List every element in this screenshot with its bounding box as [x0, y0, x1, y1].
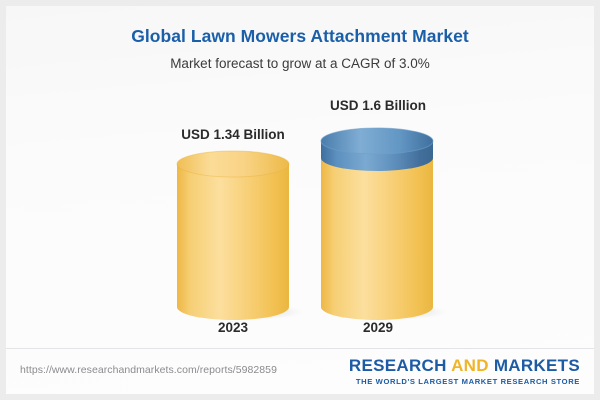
footer: https://www.researchandmarkets.com/repor… — [6, 348, 594, 394]
bar-2029 — [321, 128, 433, 320]
logo-word-research: RESEARCH — [349, 356, 451, 375]
infographic-root: Global Lawn Mowers Attachment Market Mar… — [0, 0, 600, 400]
report-url[interactable]: https://www.researchandmarkets.com/repor… — [20, 364, 277, 376]
logo-tagline: THE WORLD'S LARGEST MARKET RESEARCH STOR… — [349, 376, 580, 387]
axis-label-2029: 2029 — [278, 320, 478, 335]
bar-2023-body — [177, 164, 289, 320]
research-and-markets-logo[interactable]: RESEARCH AND MARKETS THE WORLD'S LARGEST… — [349, 356, 580, 387]
bar-cylinders — [6, 6, 594, 348]
logo-word-markets: MARKETS — [494, 356, 580, 375]
bar-2029-body-base — [321, 158, 433, 320]
bar-chart: USD 1.34 Billion USD 1.6 Billion — [6, 6, 594, 348]
infographic-card: Global Lawn Mowers Attachment Market Mar… — [6, 6, 594, 394]
bar-2023 — [177, 151, 289, 320]
logo-wordmark: RESEARCH AND MARKETS — [349, 356, 580, 376]
logo-word-and: AND — [451, 356, 494, 375]
